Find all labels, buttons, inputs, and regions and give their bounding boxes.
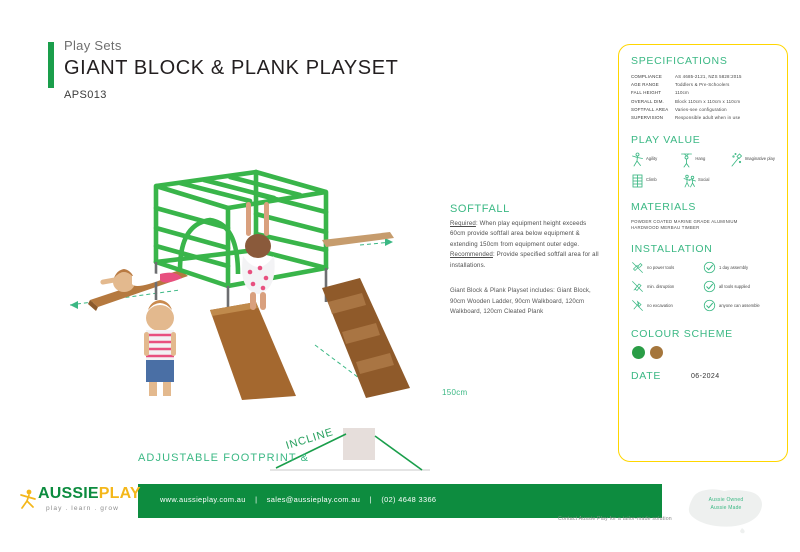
- spec-sheet-page: Play Sets GIANT BLOCK & PLANK PLAYSET AP…: [0, 0, 800, 552]
- date-row: DATE 06-2024: [631, 370, 775, 382]
- installation-title: INSTALLATION: [631, 243, 775, 255]
- materials-line: HARDWOOD MERBAU TIMBER: [631, 225, 775, 231]
- softfall-recommended-label: Recommended: [450, 251, 493, 258]
- play-value-item-imaginative-play: Imaginative play: [730, 152, 775, 168]
- installation-item-all-tools-supplied: all tools supplied: [703, 280, 775, 293]
- logo-aussie: AUSSIE: [38, 485, 99, 502]
- installation-label: all tools supplied: [719, 284, 750, 289]
- agility-icon: [631, 152, 644, 168]
- table-row: SOFTFALL AREA Varies-see configuration: [631, 105, 775, 113]
- specifications-title: SPECIFICATIONS: [631, 55, 775, 67]
- footer-website[interactable]: www.aussieplay.com.au: [160, 495, 246, 504]
- softfall-section: SOFTFALL Required: When play equipment h…: [450, 203, 600, 271]
- social-icon: [683, 173, 696, 189]
- play-value-row-2: Climb Social: [631, 173, 775, 189]
- tailor-made-note: Contact Aussie Play for a tailor-made so…: [558, 516, 672, 522]
- product-illustration: 150cm: [60, 150, 440, 400]
- colour-swatches: [632, 346, 775, 359]
- company-logo[interactable]: AUSSIEPLAY play . learn . grow: [16, 485, 136, 512]
- footer-phone: (02) 4648 3366: [381, 495, 436, 504]
- spec-value: Toddlers & Pre-Schoolers: [675, 81, 775, 89]
- play-value-label: Agility: [646, 157, 657, 162]
- softfall-required-label: Required: [450, 220, 476, 227]
- check-icon: [703, 299, 716, 312]
- specifications-card: SPECIFICATIONS COMPLIANCE AS 4685-2121, …: [618, 44, 788, 462]
- table-row: SUPERVISION Responsible adult when in us…: [631, 113, 775, 121]
- play-value-item-hang: Hang: [680, 152, 725, 168]
- play-value-item-social: Social: [683, 173, 731, 189]
- installation-label: no excavation: [647, 303, 673, 308]
- hang-icon: [680, 152, 693, 168]
- badge-line-1: Aussie Owned: [702, 496, 750, 504]
- product-code: APS013: [64, 89, 398, 101]
- spec-label: SOFTFALL AREA: [631, 105, 675, 113]
- spec-value: Block 110cm x 110cm x 110cm: [675, 97, 775, 105]
- installation-label: anyone can assemble: [719, 303, 760, 308]
- aussie-made-badge: Aussie Owned Aussie Made: [676, 482, 786, 534]
- play-value-row-1: Agility Hang: [631, 152, 775, 168]
- badge-text: Aussie Owned Aussie Made: [702, 496, 750, 512]
- check-icon: [703, 261, 716, 274]
- colour-scheme-title: COLOUR SCHEME: [631, 328, 775, 340]
- colour-swatch-brown: [650, 346, 663, 359]
- installation-item-no-power-tools: no power tools: [631, 261, 703, 274]
- play-value-label: Social: [698, 178, 709, 183]
- footer-separator: |: [255, 495, 257, 504]
- play-value-label: Hang: [695, 157, 705, 162]
- footer-email[interactable]: sales@aussieplay.com.au: [267, 495, 360, 504]
- header-accent-bar: [48, 42, 54, 88]
- softfall-body: Required: When play equipment height exc…: [450, 219, 600, 271]
- no-power-tools-icon: [631, 261, 644, 274]
- page-header: Play Sets GIANT BLOCK & PLANK PLAYSET AP…: [48, 38, 398, 101]
- inclusions-text: Giant Block & Plank Playset includes: Gi…: [450, 286, 602, 318]
- imaginative-play-icon: [730, 152, 743, 168]
- play-value-title: PLAY VALUE: [631, 134, 775, 146]
- colour-swatch-green: [632, 346, 645, 359]
- table-row: AGE RANGE Toddlers & Pre-Schoolers: [631, 81, 775, 89]
- play-value-label: Climb: [646, 178, 657, 183]
- installation-item-no-excavation: no excavation: [631, 299, 703, 312]
- badge-line-2: Aussie Made: [702, 504, 750, 512]
- check-icon: [703, 280, 716, 293]
- spec-label: COMPLIANCE: [631, 73, 675, 81]
- dimension-label-150cm: 150cm: [442, 388, 468, 397]
- play-value-item-agility: Agility: [631, 152, 676, 168]
- date-label: DATE: [631, 370, 691, 382]
- logo-wordmark: AUSSIEPLAY: [38, 485, 136, 503]
- climb-icon: [631, 173, 644, 189]
- table-row: COMPLIANCE AS 4685-2121, NZS 5828:2015: [631, 73, 775, 81]
- logo-play: PLAY: [99, 485, 141, 502]
- spec-label: AGE RANGE: [631, 81, 675, 89]
- play-value-item-climb: Climb: [631, 173, 679, 189]
- spec-label: OVERALL DIM.: [631, 97, 675, 105]
- spec-label: FALL HEIGHT: [631, 89, 675, 97]
- spec-value: 110cm: [675, 89, 775, 97]
- installation-label: min. disruption: [647, 284, 674, 289]
- specifications-table: COMPLIANCE AS 4685-2121, NZS 5828:2015 A…: [631, 73, 775, 122]
- installation-item-1-day-assembly: 1 day assembly: [703, 261, 775, 274]
- installation-grid: no power tools 1 day assembly min. di: [631, 261, 775, 316]
- installation-label: no power tools: [647, 265, 674, 270]
- footer-contact: www.aussieplay.com.au | sales@aussieplay…: [160, 495, 436, 504]
- play-value-label: Imaginative play: [745, 157, 775, 162]
- softfall-title: SOFTFALL: [450, 203, 600, 215]
- date-value: 06-2024: [691, 373, 720, 380]
- table-row: OVERALL DIM. Block 110cm x 110cm x 110cm: [631, 97, 775, 105]
- installation-label: 1 day assembly: [719, 265, 748, 270]
- table-row: FALL HEIGHT 110cm: [631, 89, 775, 97]
- logo-tagline: play . learn . grow: [46, 505, 136, 512]
- page-title: GIANT BLOCK & PLANK PLAYSET: [64, 57, 398, 80]
- spec-value: AS 4685-2121, NZS 5828:2015: [675, 73, 775, 81]
- no-excavation-icon: [631, 299, 644, 312]
- spec-value: Varies-see configuration: [675, 105, 775, 113]
- footer-separator: |: [370, 495, 372, 504]
- header-kicker: Play Sets: [64, 38, 398, 53]
- installation-item-min-disruption: min. disruption: [631, 280, 703, 293]
- adjustable-footprint-label: ADJUSTABLE FOOTPRINT &: [138, 452, 309, 464]
- no-disruption-icon: [631, 280, 644, 293]
- spec-label: SUPERVISION: [631, 113, 675, 121]
- running-figure-icon: [18, 488, 38, 510]
- spec-value: Responsible adult when in use: [675, 113, 775, 121]
- materials-title: MATERIALS: [631, 201, 775, 213]
- installation-item-anyone-can-assemble: anyone can assemble: [703, 299, 775, 312]
